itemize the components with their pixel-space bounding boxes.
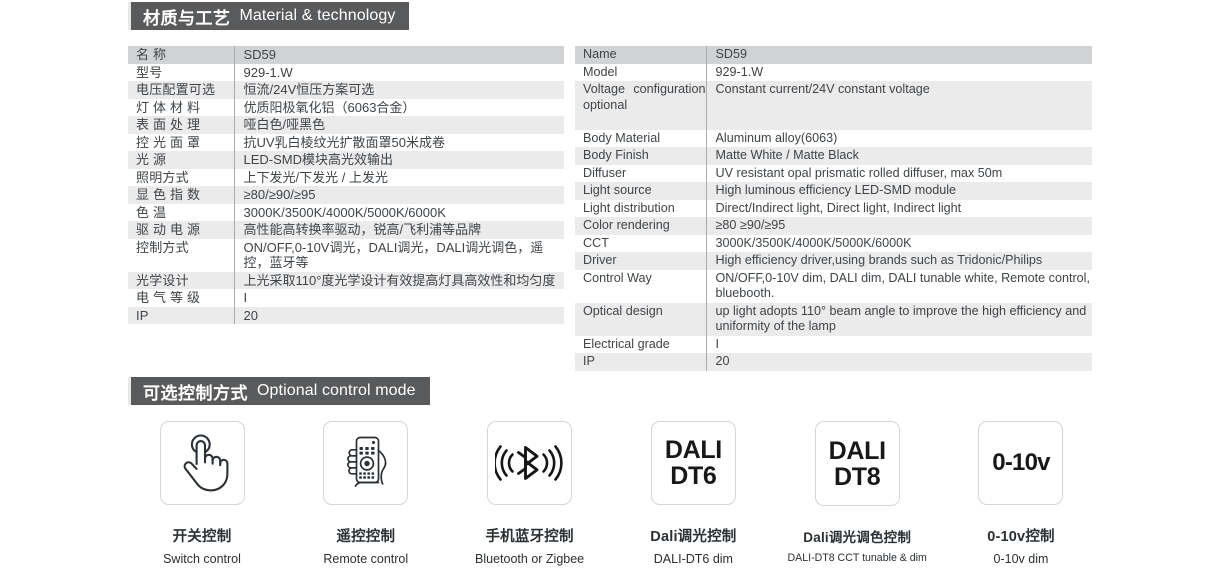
control-mode-dali-dt8[interactable]: DALI DT8 Dali调光调色控制 DALI-DT8 CCT tunable… [783, 421, 931, 566]
spec-key: 名 称 [128, 46, 234, 64]
control-mode-label-cn: 0-10v控制 [987, 525, 1055, 546]
control-mode-label-cn: Dali调光调色控制 [803, 526, 911, 546]
spec-key: Name [575, 46, 706, 64]
spec-key: CCT [575, 235, 706, 253]
table-row: 驱 动 电 源 高性能高转换率驱动，锐高/飞利浦等品牌 [128, 221, 564, 239]
dali-dt8-icon: DALI DT8 [829, 438, 886, 490]
control-mode-card[interactable] [160, 421, 245, 505]
control-mode-label-en: Bluetooth or Zigbee [475, 552, 584, 566]
spec-value: I [706, 336, 1092, 354]
spec-key: Voltage configuration optional [575, 81, 706, 130]
spec-value: 929-1.W [234, 64, 564, 82]
control-mode-caption: 开关控制 Switch control [163, 525, 241, 566]
control-mode-caption: 0-10v控制 0-10v dim [987, 525, 1055, 566]
spec-key: 表 面 处 理 [128, 116, 234, 134]
spec-value: 哑白色/哑黑色 [234, 116, 564, 134]
spec-key: 控 光 面 罩 [128, 134, 234, 152]
spec-key: Light distribution [575, 200, 706, 218]
spec-value: Constant current/24V constant voltage [706, 81, 1092, 130]
table-row: Body Finish Matte White / Matte Black [575, 147, 1092, 165]
spec-value: I [234, 289, 564, 307]
control-mode-card[interactable] [323, 421, 408, 505]
table-row: IP 20 [128, 307, 564, 325]
spec-key: 驱 动 电 源 [128, 221, 234, 239]
dali-dt6-line1: DALI [665, 437, 722, 463]
spec-value: up light adopts 110° beam angle to impro… [706, 303, 1092, 336]
spec-value: 3000K/3500K/4000K/5000K/6000K [706, 235, 1092, 253]
spec-value: UV resistant opal prismatic rolled diffu… [706, 165, 1092, 183]
spec-value: 929-1.W [706, 64, 1092, 82]
section-header-control-mode: 可选控制方式 Optional control mode [128, 377, 430, 405]
spec-key: 光 源 [128, 151, 234, 169]
spec-value: 3000K/3500K/4000K/5000K/6000K [234, 204, 564, 222]
spec-value: 恒流/24V恒压方案可选 [234, 81, 564, 99]
spec-key: Body Finish [575, 147, 706, 165]
spec-value: ≥80/≥90/≥95 [234, 186, 564, 204]
table-row: Control Way ON/OFF,0-10V dim, DALI dim, … [575, 270, 1092, 303]
table-row: 电 气 等 级 I [128, 289, 564, 307]
control-mode-caption: 手机蓝牙控制 Bluetooth or Zigbee [475, 525, 584, 566]
spec-value: 20 [234, 307, 564, 325]
spec-table-english: Name SD59 Model 929-1.W Voltage configur… [575, 46, 1092, 371]
table-row: Model 929-1.W [575, 64, 1092, 82]
zero-to-ten-volt-icon: 0-10v [992, 449, 1049, 477]
spec-value: Aluminum alloy(6063) [706, 130, 1092, 148]
control-mode-caption: Dali调光调色控制 DALI-DT8 CCT tunable & dim [788, 526, 927, 564]
table-row: Name SD59 [575, 46, 1092, 64]
spec-key: 显 色 指 数 [128, 186, 234, 204]
control-mode-label-en: 0-10v dim [994, 552, 1049, 566]
control-mode-bluetooth[interactable]: 手机蓝牙控制 Bluetooth or Zigbee [456, 421, 604, 566]
spec-value: LED-SMD模块高光效输出 [234, 151, 564, 169]
spec-key: 电 气 等 级 [128, 289, 234, 307]
spec-key: IP [128, 307, 234, 325]
control-mode-caption: 遥控控制 Remote control [323, 525, 408, 566]
table-row: CCT 3000K/3500K/4000K/5000K/6000K [575, 235, 1092, 253]
table-row: 名 称 SD59 [128, 46, 564, 64]
spec-table-chinese: 名 称 SD59 型号 929-1.W 电压配置可选 恒流/24V恒压方案可选 … [128, 46, 564, 324]
control-mode-dali-dt6[interactable]: DALI DT6 Dali调光控制 DALI-DT6 dim [619, 421, 767, 566]
spec-key: 色 温 [128, 204, 234, 222]
control-mode-card[interactable] [487, 421, 572, 505]
control-mode-label-en: Switch control [163, 552, 241, 566]
spec-key: Diffuser [575, 165, 706, 183]
spec-value: 上光采取110°度光学设计有效提高灯具高效性和均匀度 [234, 272, 564, 290]
table-row: 型号 929-1.W [128, 64, 564, 82]
table-row: 显 色 指 数 ≥80/≥90/≥95 [128, 186, 564, 204]
table-row: 表 面 处 理 哑白色/哑黑色 [128, 116, 564, 134]
spec-key: IP [575, 353, 706, 371]
control-mode-label-cn: 手机蓝牙控制 [485, 525, 573, 546]
control-mode-remote[interactable]: 遥控控制 Remote control [292, 421, 440, 566]
control-mode-card[interactable]: DALI DT6 [651, 421, 736, 505]
table-row: IP 20 [575, 353, 1092, 371]
control-mode-label-en: DALI-DT6 dim [654, 552, 733, 566]
control-mode-list: 开关控制 Switch control [128, 421, 1095, 566]
table-row: 光 源 LED-SMD模块高光效输出 [128, 151, 564, 169]
table-row: Voltage configuration optional Constant … [575, 81, 1092, 130]
spec-value: Direct/Indirect light, Direct light, Ind… [706, 200, 1092, 218]
spec-value: SD59 [234, 46, 564, 64]
spec-key: 型号 [128, 64, 234, 82]
section-header-control-en: Optional control mode [257, 382, 416, 400]
hand-remote-icon [335, 432, 397, 494]
spec-value: 上下发光/下发光 / 上发光 [234, 169, 564, 187]
table-row: 控制方式 ON/OFF,0-10V调光，DALI调光，DALI调光调色，遥控，蓝… [128, 239, 564, 272]
control-mode-label-en: DALI-DT8 CCT tunable & dim [788, 552, 927, 564]
spec-key: Model [575, 64, 706, 82]
control-mode-label-cn: 遥控控制 [336, 525, 395, 546]
spec-value: 20 [706, 353, 1092, 371]
spec-value: SD59 [706, 46, 1092, 64]
spec-key: 灯 体 材 料 [128, 99, 234, 117]
control-mode-label-cn: Dali调光控制 [650, 525, 736, 546]
spec-value: 优质阳极氧化铝（6063合金） [234, 99, 564, 117]
table-row: Electrical grade I [575, 336, 1092, 354]
control-mode-label-cn: 开关控制 [173, 525, 232, 546]
spec-value: ON/OFF,0-10V dim, DALI dim, DALI tunable… [706, 270, 1092, 303]
spec-key: Control Way [575, 270, 706, 303]
table-row: Light distribution Direct/Indirect light… [575, 200, 1092, 218]
spec-key: Light source [575, 182, 706, 200]
section-header-material: 材质与工艺 Material & technology [128, 2, 409, 30]
section-header-material-cn: 材质与工艺 [143, 4, 231, 29]
control-mode-card[interactable]: DALI DT8 [815, 421, 900, 506]
spec-key: 照明方式 [128, 169, 234, 187]
spec-key: 控制方式 [128, 239, 234, 272]
spec-value: ON/OFF,0-10V调光，DALI调光，DALI调光调色，遥控，蓝牙等 [234, 239, 564, 272]
section-header-material-en: Material & technology [240, 7, 396, 25]
table-row: 色 温 3000K/3500K/4000K/5000K/6000K [128, 204, 564, 222]
table-row: Optical design up light adopts 110° beam… [575, 303, 1092, 336]
spec-value: High luminous efficiency LED-SMD module [706, 182, 1092, 200]
spec-key: Electrical grade [575, 336, 706, 354]
bluetooth-wireless-icon [495, 438, 565, 488]
table-row: Light source High luminous efficiency LE… [575, 182, 1092, 200]
spec-key: Optical design [575, 303, 706, 336]
spec-key-text: Voltage configuration optional [583, 82, 706, 129]
spec-key: Body Material [575, 130, 706, 148]
table-row: 电压配置可选 恒流/24V恒压方案可选 [128, 81, 564, 99]
spec-value: Matte White / Matte Black [706, 147, 1092, 165]
spec-key: 光学设计 [128, 272, 234, 290]
spec-value: High efficiency driver,using brands such… [706, 252, 1092, 270]
dali-dt6-line2: DT6 [665, 463, 722, 489]
dali-dt8-line1: DALI [829, 438, 886, 464]
control-mode-card[interactable]: 0-10v [978, 421, 1063, 505]
control-mode-caption: Dali调光控制 DALI-DT6 dim [650, 525, 736, 566]
table-row: 照明方式 上下发光/下发光 / 上发光 [128, 169, 564, 187]
table-row: 控 光 面 罩 抗UV乳白棱纹光扩散面罩50米成卷 [128, 134, 564, 152]
table-row: Color rendering ≥80 ≥90/≥95 [575, 217, 1092, 235]
control-mode-label-en: Remote control [323, 552, 408, 566]
spec-value: ≥80 ≥90/≥95 [706, 217, 1092, 235]
spec-key: Driver [575, 252, 706, 270]
control-mode-switch[interactable]: 开关控制 Switch control [128, 421, 276, 566]
table-row: Body Material Aluminum alloy(6063) [575, 130, 1092, 148]
table-row: Driver High efficiency driver,using bran… [575, 252, 1092, 270]
table-row: 灯 体 材 料 优质阳极氧化铝（6063合金） [128, 99, 564, 117]
section-header-control-cn: 可选控制方式 [143, 379, 248, 404]
hand-tap-icon [174, 433, 230, 493]
spec-value: 高性能高转换率驱动，锐高/飞利浦等品牌 [234, 221, 564, 239]
dali-dt8-line2: DT8 [829, 464, 886, 490]
spec-key: Color rendering [575, 217, 706, 235]
dali-dt6-icon: DALI DT6 [665, 437, 722, 489]
spec-sheet-page: 材质与工艺 Material & technology 名 称 SD59 型号 … [0, 0, 1215, 582]
spec-key: 电压配置可选 [128, 81, 234, 99]
table-row: Diffuser UV resistant opal prismatic rol… [575, 165, 1092, 183]
control-mode-0-10v[interactable]: 0-10v 0-10v控制 0-10v dim [947, 421, 1095, 566]
spec-value: 抗UV乳白棱纹光扩散面罩50米成卷 [234, 134, 564, 152]
table-row: 光学设计 上光采取110°度光学设计有效提高灯具高效性和均匀度 [128, 272, 564, 290]
